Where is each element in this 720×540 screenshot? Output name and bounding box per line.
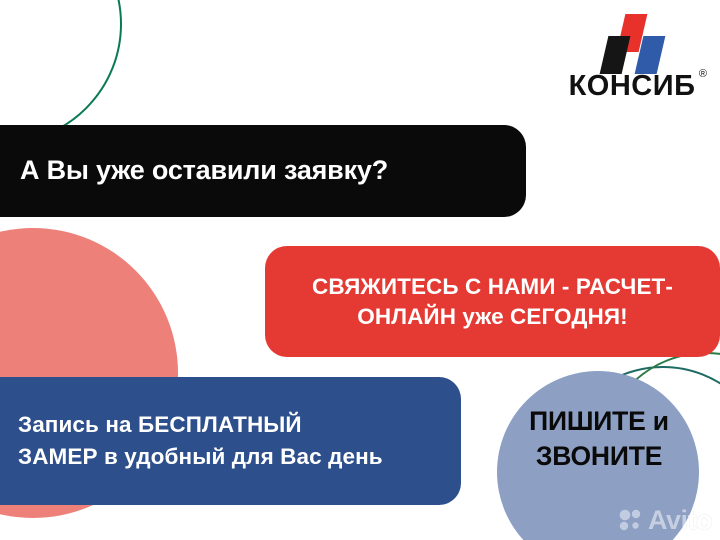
banner-question: А Вы уже оставили заявку?: [0, 125, 526, 217]
cta-line2: ЗВОНИТЕ: [494, 439, 704, 474]
brand-logo: КОНСИБ ®: [554, 14, 710, 101]
banner-free-measurement-text: Запись на БЕСПЛАТНЫЙ ЗАМЕР в удобный для…: [18, 409, 383, 473]
cta-line1: ПИШИТЕ и: [494, 404, 704, 439]
cta-write-and-call: ПИШИТЕ и ЗВОНИТЕ: [494, 404, 704, 474]
avito-watermark: Avito: [618, 507, 712, 534]
banner-contact-line2-part1: ОНЛАЙН: [357, 304, 456, 329]
banner-measurement-line1: Запись на БЕСПЛАТНЫЙ: [18, 412, 302, 437]
banner-free-measurement: Запись на БЕСПЛАТНЫЙ ЗАМЕР в удобный для…: [0, 377, 461, 505]
logo-parallelogram-black-icon: [600, 36, 631, 74]
logo-mark-icon: [594, 14, 670, 70]
banner-question-text: А Вы уже оставили заявку?: [20, 155, 388, 186]
banner-measurement-line2: ЗАМЕР в удобный для Вас день: [18, 444, 383, 469]
avito-wordmark: Avito: [648, 507, 712, 534]
poster-canvas: КОНСИБ ® А Вы уже оставили заявку? СВЯЖИ…: [0, 0, 720, 540]
banner-contact-line1: СВЯЖИТЕСЬ С НАМИ - РАСЧЕТ-: [312, 274, 673, 299]
banner-contact-line2-part3: СЕГОДНЯ!: [510, 304, 628, 329]
banner-contact-us: СВЯЖИТЕСЬ С НАМИ - РАСЧЕТ- ОНЛАЙН уже СЕ…: [265, 246, 720, 357]
banner-contact-us-text: СВЯЖИТЕСЬ С НАМИ - РАСЧЕТ- ОНЛАЙН уже СЕ…: [312, 272, 673, 331]
avito-dots-icon: [618, 508, 644, 534]
logo-wordmark-text: КОНСИБ: [569, 70, 696, 102]
banner-contact-line2-part2: уже: [462, 304, 503, 329]
logo-wordmark: КОНСИБ ®: [569, 72, 696, 101]
decorative-ring-top-left: [0, 0, 122, 144]
registered-trademark-icon: ®: [699, 69, 708, 80]
